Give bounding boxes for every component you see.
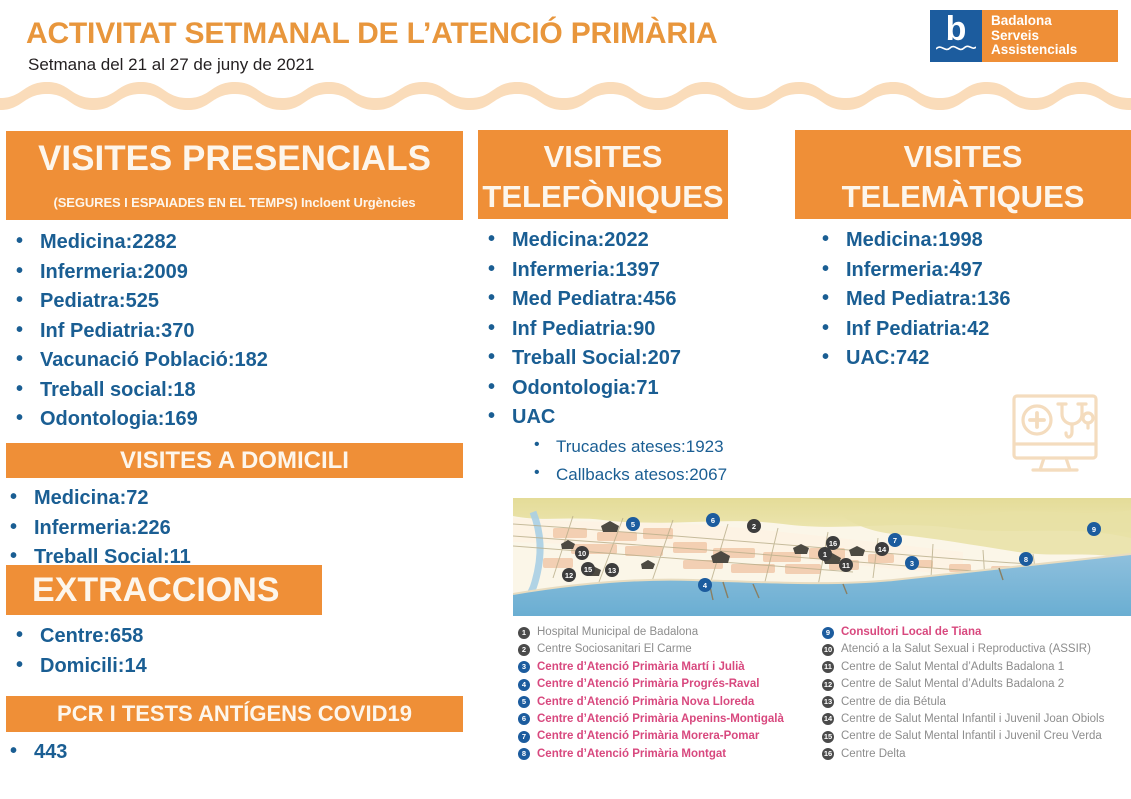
- sub-list-item: Callbacks atesos:2067: [512, 461, 808, 489]
- section-title-telematiques-line1: VISITES: [904, 139, 1023, 174]
- map-legend-badge: 8: [518, 748, 530, 760]
- svg-text:15: 15: [584, 565, 592, 574]
- list-item: Treball social:18: [6, 376, 466, 406]
- map-marker: 12: [562, 568, 576, 582]
- section-title-pcr: PCR I TESTS ANTÍGENS COVID19: [57, 701, 412, 726]
- map-legend-label: Centre de Salut Mental Infantil i Juveni…: [841, 730, 1102, 742]
- logo-mark-icon: b: [930, 10, 982, 62]
- list-item: Med Pediatra:456: [478, 285, 808, 315]
- map-legend-item: 1Hospital Municipal de Badalona: [518, 624, 828, 641]
- map-marker: 10: [575, 546, 589, 560]
- section-header-visites-a-domicili: VISITES A DOMICILI: [6, 443, 463, 478]
- map-legend-item: 16Centre Delta: [822, 746, 1131, 763]
- svg-text:7: 7: [893, 536, 897, 545]
- section-header-extraccions: EXTRACCIONS: [6, 565, 322, 615]
- page-title: ACTIVITAT SETMANAL DE L’ATENCIÓ PRIMÀRIA: [26, 17, 717, 51]
- badalona-serveis-assistencials-logo: b Badalona Serveis Assistencials: [930, 10, 1118, 62]
- map-legend-label: Centre Sociosanitari El Carme: [537, 643, 692, 655]
- map-legend-label: Centre de Salut Mental d’Adults Badalona…: [841, 678, 1064, 690]
- map-marker: 2: [747, 519, 761, 533]
- map-legend-item: 2Centre Sociosanitari El Carme: [518, 641, 828, 658]
- map-marker: 5: [626, 517, 640, 531]
- list-item: Inf Pediatria:370: [6, 317, 466, 347]
- stats-list-domicili: Medicina:72 Infermeria:226 Treball Socia…: [0, 484, 460, 573]
- logo-wave-icon: [936, 43, 976, 53]
- logo-line-2: Serveis: [991, 29, 1112, 44]
- map-legend-item: 12Centre de Salut Mental d’Adults Badalo…: [822, 676, 1131, 693]
- svg-text:12: 12: [565, 571, 573, 580]
- map-marker: 11: [839, 558, 853, 572]
- svg-text:11: 11: [842, 561, 850, 570]
- stats-list-telematiques: Medicina:1998 Infermeria:497 Med Pediatr…: [812, 226, 1131, 374]
- map-legend-item: 15Centre de Salut Mental Infantil i Juve…: [822, 728, 1131, 745]
- list-item: Vacunació Població:182: [6, 346, 466, 376]
- map-legend-right-column: 9Consultori Local de Tiana10Atenció a la…: [822, 624, 1131, 763]
- svg-text:1: 1: [823, 550, 827, 559]
- svg-text:3: 3: [910, 559, 914, 568]
- map-legend-label: Centre de Salut Mental Infantil i Juveni…: [841, 713, 1104, 725]
- map-legend-item: 14Centre de Salut Mental Infantil i Juve…: [822, 711, 1131, 728]
- list-item: Medicina:1998: [812, 226, 1131, 256]
- list-item: Infermeria:497: [812, 256, 1131, 286]
- map-legend-badge: 5: [518, 696, 530, 708]
- map-marker: 15: [581, 562, 595, 576]
- page-subtitle: Setmana del 21 al 27 de juny de 2021: [28, 55, 314, 75]
- stats-list-extraccions: Centre:658 Domicili:14: [6, 622, 406, 681]
- map-legend-item: 6Centre d’Atenció Primària Apenins-Monti…: [518, 711, 828, 728]
- section-title-domicili: VISITES A DOMICILI: [120, 447, 349, 474]
- map-legend-item: 9Consultori Local de Tiana: [822, 624, 1131, 641]
- telemedicine-monitor-icon: [1000, 388, 1110, 480]
- svg-text:16: 16: [829, 539, 837, 548]
- list-item: Medicina:2022: [478, 226, 808, 256]
- map-legend-item: 3Centre d’Atenció Primària Martí i Julià: [518, 659, 828, 676]
- list-item: Infermeria:2009: [6, 258, 466, 288]
- map-legend-item: 8Centre d’Atenció Primària Montgat: [518, 746, 828, 763]
- map-legend-label: Centre d’Atenció Primària Montgat: [537, 748, 726, 760]
- section-header-visites-telefoniques: VISITES TELEFÒNIQUES: [478, 130, 728, 219]
- map-legend-item: 5Centre d’Atenció Primària Nova Lloreda: [518, 694, 828, 711]
- stats-sublist-uac: Trucades ateses:1923 Callbacks atesos:20…: [512, 433, 808, 489]
- map-legend-badge: 16: [822, 748, 834, 760]
- map-illustration: 56216110121513411714389: [513, 498, 1131, 616]
- map-legend-item: 10Atenció a la Salut Sexual i Reproducti…: [822, 641, 1131, 658]
- map-legend-label: Centre d’Atenció Primària Progrés-Raval: [537, 678, 759, 690]
- map-legend-label: Centre d’Atenció Primària Morera-Pomar: [537, 730, 759, 742]
- map-legend-label: Centre d’Atenció Primària Martí i Julià: [537, 661, 745, 673]
- map-legend-badge: 3: [518, 661, 530, 673]
- map-marker: 14: [875, 542, 889, 556]
- list-item: Odontologia:71: [478, 374, 808, 404]
- map-legend-left-column: 1Hospital Municipal de Badalona2Centre S…: [518, 624, 828, 763]
- page-header: ACTIVITAT SETMANAL DE L’ATENCIÓ PRIMÀRIA…: [0, 0, 1131, 118]
- map-legend-badge: 11: [822, 661, 834, 673]
- map-legend-badge: 2: [518, 644, 530, 656]
- map-marker: 4: [698, 578, 712, 592]
- list-item: UAC:742: [812, 344, 1131, 374]
- logo-wordmark: Badalona Serveis Assistencials: [982, 10, 1118, 62]
- badalona-locations-map: 56216110121513411714389: [513, 498, 1131, 616]
- map-legend-badge: 12: [822, 679, 834, 691]
- map-legend-label: Atenció a la Salut Sexual i Reproductiva…: [841, 643, 1091, 655]
- map-legend-badge: 10: [822, 644, 834, 656]
- map-marker: 3: [905, 556, 919, 570]
- section-title-presencials: VISITES PRESENCIALS: [38, 139, 431, 178]
- map-marker: 13: [605, 563, 619, 577]
- svg-text:9: 9: [1092, 525, 1096, 534]
- sub-list-item: Trucades ateses:1923: [512, 433, 808, 461]
- map-legend-badge: 9: [822, 627, 834, 639]
- stats-list-telefoniques: Medicina:2022 Infermeria:1397 Med Pediat…: [478, 226, 808, 489]
- svg-text:5: 5: [631, 520, 635, 529]
- logo-line-1: Badalona: [991, 14, 1112, 29]
- section-header-pcr-tests-antigens: PCR I TESTS ANTÍGENS COVID19: [6, 696, 463, 732]
- logo-letter-b: b: [930, 12, 982, 46]
- list-item: 443: [0, 738, 300, 768]
- map-legend-badge: 1: [518, 627, 530, 639]
- map-legend-label: Centre de Salut Mental d’Adults Badalona…: [841, 661, 1064, 673]
- map-marker: 9: [1087, 522, 1101, 536]
- map-marker: 1: [818, 547, 832, 561]
- list-item: Domicili:14: [6, 652, 406, 682]
- map-legend-item: 7Centre d’Atenció Primària Morera-Pomar: [518, 728, 828, 745]
- list-item: Centre:658: [6, 622, 406, 652]
- section-header-visites-telematiques: VISITES TELEMÀTIQUES: [795, 130, 1131, 219]
- list-item-uac-label: UAC: [512, 406, 555, 428]
- map-legend-item: 13Centre de dia Bétula: [822, 694, 1131, 711]
- svg-text:13: 13: [608, 566, 616, 575]
- svg-text:14: 14: [878, 545, 887, 554]
- map-legend-label: Consultori Local de Tiana: [841, 626, 981, 638]
- map-legend-badge: 4: [518, 679, 530, 691]
- map-legend-label: Centre Delta: [841, 748, 906, 760]
- list-item: Med Pediatra:136: [812, 285, 1131, 315]
- section-subtitle-presencials: (SEGURES I ESPAIADES EN EL TEMPS) Incloe…: [6, 183, 463, 223]
- section-title-telematiques-line2: TELEMÀTIQUES: [842, 179, 1085, 214]
- map-legend-badge: 7: [518, 731, 530, 743]
- map-legend-label: Centre de dia Bétula: [841, 696, 946, 708]
- map-legend-item: 4Centre d’Atenció Primària Progrés-Raval: [518, 676, 828, 693]
- stats-list-pcr: 443: [0, 738, 300, 768]
- section-title-extraccions: EXTRACCIONS: [32, 571, 279, 609]
- list-item: Medicina:2282: [6, 228, 466, 258]
- list-item: Pediatra:525: [6, 287, 466, 317]
- svg-text:8: 8: [1024, 555, 1028, 564]
- logo-line-3: Assistencials: [991, 43, 1112, 58]
- svg-text:10: 10: [578, 549, 586, 558]
- map-marker: 6: [706, 513, 720, 527]
- list-item: Medicina:72: [0, 484, 460, 514]
- map-legend-badge: 15: [822, 731, 834, 743]
- map-legend-label: Centre d’Atenció Primària Apenins-Montig…: [537, 713, 784, 725]
- stats-list-presencials: Medicina:2282 Infermeria:2009 Pediatra:5…: [6, 228, 466, 435]
- section-title-telefoniques-line2: TELEFÒNIQUES: [482, 179, 723, 214]
- map-legend-item: 11Centre de Salut Mental d’Adults Badalo…: [822, 659, 1131, 676]
- wave-divider-decoration: [0, 76, 1131, 110]
- map-legend-badge: 6: [518, 713, 530, 725]
- list-item: Inf Pediatria:90: [478, 315, 808, 345]
- list-item-uac: UAC Trucades ateses:1923 Callbacks ateso…: [478, 403, 808, 489]
- map-legend-badge: 13: [822, 696, 834, 708]
- list-item: Infermeria:1397: [478, 256, 808, 286]
- list-item: Odontologia:169: [6, 405, 466, 435]
- section-title-telefoniques-line1: VISITES: [544, 139, 663, 174]
- map-legend-label: Hospital Municipal de Badalona: [537, 626, 698, 638]
- section-header-visites-presencials: VISITES PRESENCIALS (SEGURES I ESPAIADES…: [6, 131, 463, 220]
- map-legend-badge: 14: [822, 713, 834, 725]
- map-marker: 8: [1019, 552, 1033, 566]
- list-item: Infermeria:226: [0, 514, 460, 544]
- svg-text:6: 6: [711, 516, 715, 525]
- map-marker: 7: [888, 533, 902, 547]
- list-item: Inf Pediatria:42: [812, 315, 1131, 345]
- list-item: Treball Social:207: [478, 344, 808, 374]
- svg-text:2: 2: [752, 522, 756, 531]
- map-legend-label: Centre d’Atenció Primària Nova Lloreda: [537, 696, 754, 708]
